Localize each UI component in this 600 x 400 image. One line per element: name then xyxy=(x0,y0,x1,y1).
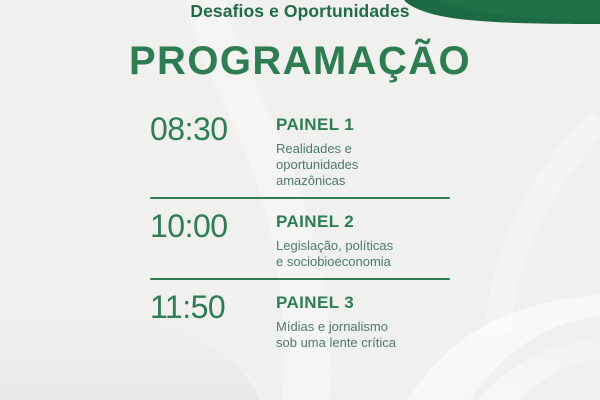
schedule-description-line: amazônicas xyxy=(276,173,450,189)
schedule-panel-description: Legislação, políticas e sociobioeconomia xyxy=(276,238,450,270)
schedule-time: 10:00 xyxy=(150,209,262,243)
schedule-item[interactable]: 11:50 PAINEL 3 Mídias e jornalismo sob u… xyxy=(150,280,450,351)
schedule-panel-title: PAINEL 3 xyxy=(276,293,450,313)
schedule-panel-description: Realidades e oportunidades amazônicas xyxy=(276,141,450,189)
schedule-description-line: Legislação, políticas xyxy=(276,238,450,254)
schedule-description-line: sob uma lente crítica xyxy=(276,335,450,351)
schedule-panel-description: Mídias e jornalismo sob uma lente crític… xyxy=(276,319,450,351)
schedule-item[interactable]: 08:30 PAINEL 1 Realidades e oportunidade… xyxy=(150,112,450,197)
schedule-panel-block: PAINEL 2 Legislação, políticas e sociobi… xyxy=(276,209,450,270)
poster-content: Desafios e Oportunidades PROGRAMAÇÃO 08:… xyxy=(0,0,600,400)
schedule-description-line: e sociobioeconomia xyxy=(276,254,450,270)
schedule-panel-title: PAINEL 1 xyxy=(276,115,450,135)
schedule-description-line: Mídias e jornalismo xyxy=(276,319,450,335)
poster-eyebrow: Desafios e Oportunidades xyxy=(0,0,600,22)
schedule-description-line: Realidades e xyxy=(276,141,450,157)
schedule-time: 08:30 xyxy=(150,112,262,146)
schedule-panel-block: PAINEL 3 Mídias e jornalismo sob uma len… xyxy=(276,290,450,351)
schedule-time: 11:50 xyxy=(150,290,262,324)
schedule-item[interactable]: 10:00 PAINEL 2 Legislação, políticas e s… xyxy=(150,199,450,278)
page-title: PROGRAMAÇÃO xyxy=(0,38,600,84)
schedule-description-line: oportunidades xyxy=(276,157,450,173)
schedule-list: 08:30 PAINEL 1 Realidades e oportunidade… xyxy=(150,112,450,351)
schedule-panel-block: PAINEL 1 Realidades e oportunidades amaz… xyxy=(276,112,450,189)
schedule-panel-title: PAINEL 2 xyxy=(276,212,450,232)
